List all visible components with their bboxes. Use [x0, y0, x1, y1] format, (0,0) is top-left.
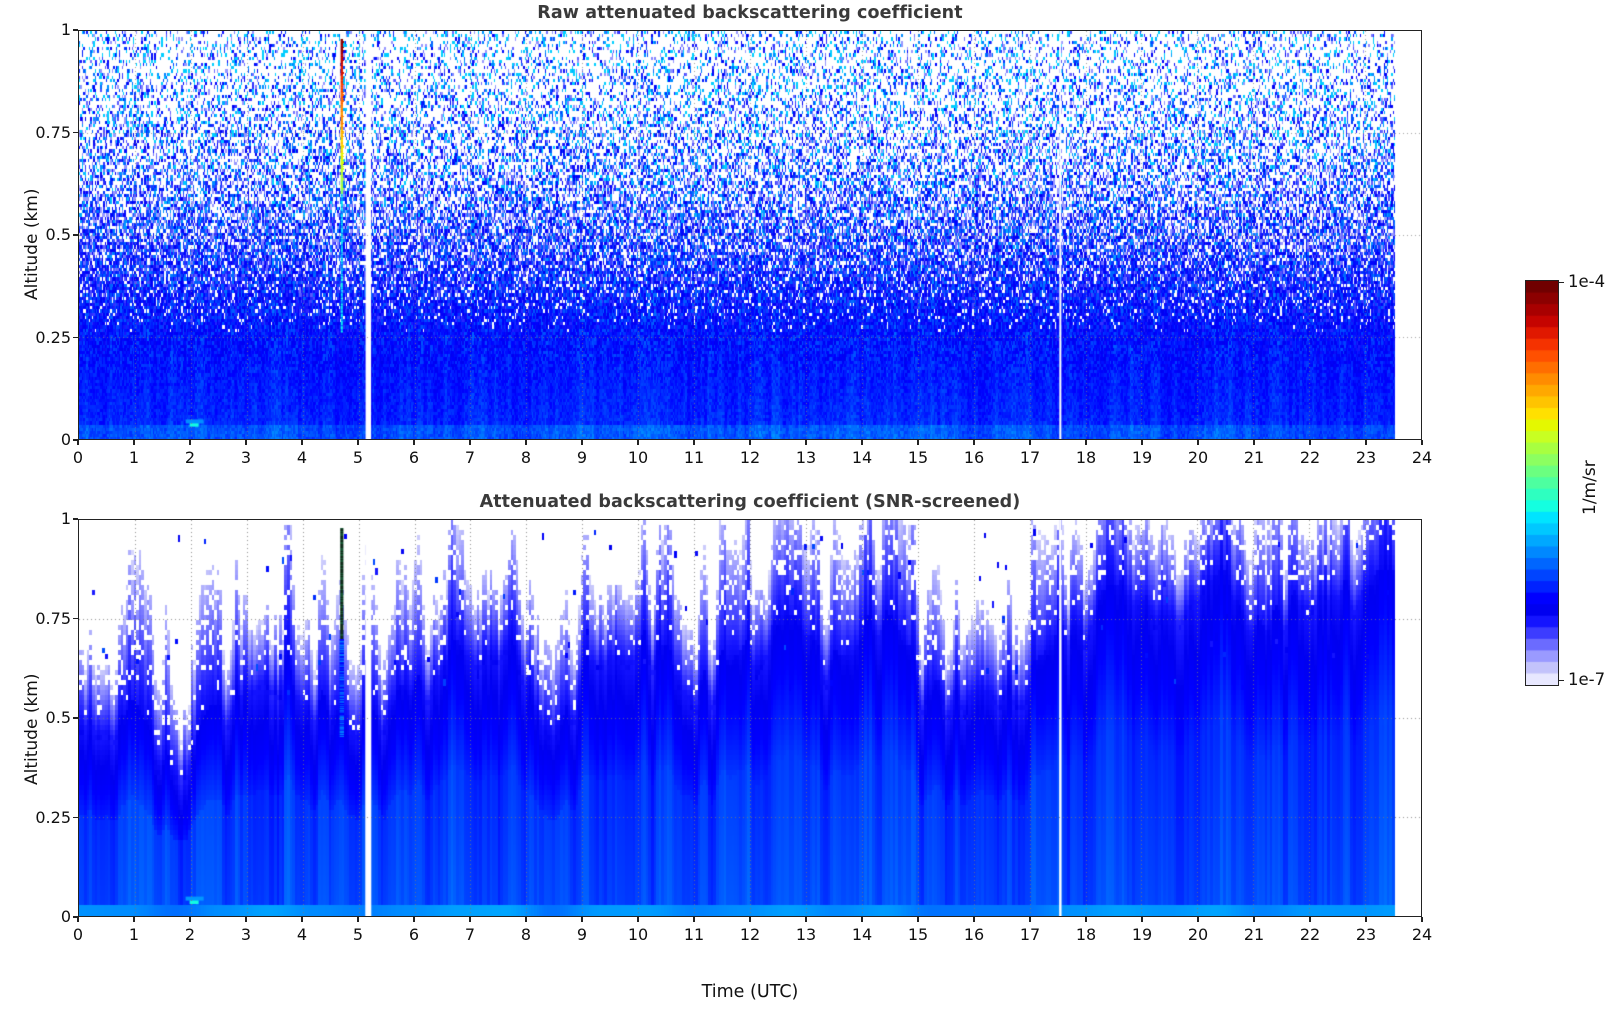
ytick-mark-1-3 — [73, 618, 78, 619]
xtick-mark-1-6 — [413, 917, 414, 922]
xtick-mark-1-21 — [1253, 917, 1254, 922]
xtick-label-0-0: 0 — [53, 448, 103, 467]
colorbar-title: 1/m/sr — [1580, 460, 1600, 515]
colorbar-tick-top — [1558, 282, 1564, 283]
xtick-label-1-2: 2 — [165, 925, 215, 944]
ytick-label-0-2: 0.5 — [16, 225, 71, 244]
xtick-label-1-18: 18 — [1061, 925, 1111, 944]
xtick-mark-0-13 — [805, 440, 806, 445]
xtick-label-0-4: 4 — [277, 448, 327, 467]
xtick-label-1-6: 6 — [389, 925, 439, 944]
xtick-label-1-3: 3 — [221, 925, 271, 944]
xtick-label-0-9: 9 — [557, 448, 607, 467]
xtick-label-1-16: 16 — [949, 925, 999, 944]
colorbar — [1525, 280, 1559, 686]
colorbar-label-max: 1e-4 — [1568, 272, 1605, 291]
xtick-mark-0-17 — [1029, 440, 1030, 445]
xtick-label-1-4: 4 — [277, 925, 327, 944]
xtick-label-1-21: 21 — [1229, 925, 1279, 944]
xtick-mark-0-16 — [973, 440, 974, 445]
ytick-mark-1-1 — [73, 817, 78, 818]
ytick-mark-0-1 — [73, 337, 78, 338]
xtick-mark-1-9 — [581, 917, 582, 922]
xtick-mark-1-13 — [805, 917, 806, 922]
xtick-label-1-10: 10 — [613, 925, 663, 944]
xtick-mark-0-18 — [1085, 440, 1086, 445]
xtick-mark-0-5 — [357, 440, 358, 445]
xtick-mark-0-10 — [637, 440, 638, 445]
xtick-label-0-3: 3 — [221, 448, 271, 467]
colorbar-label-min: 1e-7 — [1568, 670, 1605, 689]
xtick-mark-1-24 — [1421, 917, 1422, 922]
xtick-label-0-12: 12 — [725, 448, 775, 467]
xtick-label-0-13: 13 — [781, 448, 831, 467]
ytick-label-0-0: 0 — [16, 430, 71, 449]
ytick-label-1-3: 0.75 — [16, 609, 71, 628]
xtick-label-0-2: 2 — [165, 448, 215, 467]
xtick-label-0-19: 19 — [1117, 448, 1167, 467]
xtick-label-0-20: 20 — [1173, 448, 1223, 467]
xtick-mark-0-21 — [1253, 440, 1254, 445]
xtick-mark-0-14 — [861, 440, 862, 445]
panel-2-title: Attenuated backscattering coefficient (S… — [80, 492, 1420, 512]
xtick-mark-1-1 — [133, 917, 134, 922]
xtick-mark-1-12 — [749, 917, 750, 922]
xtick-mark-1-7 — [469, 917, 470, 922]
xtick-mark-0-7 — [469, 440, 470, 445]
screened-backscatter-plot — [78, 519, 1422, 917]
xtick-mark-0-12 — [749, 440, 750, 445]
xtick-mark-1-22 — [1309, 917, 1310, 922]
lidar-backscatter-figure: Raw attenuated backscattering coefficien… — [0, 0, 1621, 1020]
xtick-mark-0-15 — [917, 440, 918, 445]
raw-backscatter-plot — [78, 30, 1422, 440]
xtick-mark-1-18 — [1085, 917, 1086, 922]
xtick-label-1-14: 14 — [837, 925, 887, 944]
panel-1-ylabel: Altitude (km) — [22, 188, 42, 300]
xtick-mark-0-24 — [1421, 440, 1422, 445]
xtick-label-1-22: 22 — [1285, 925, 1335, 944]
xtick-mark-0-8 — [525, 440, 526, 445]
xtick-label-0-16: 16 — [949, 448, 999, 467]
xtick-mark-0-4 — [301, 440, 302, 445]
xtick-mark-0-20 — [1197, 440, 1198, 445]
xtick-label-1-8: 8 — [501, 925, 551, 944]
xtick-mark-1-15 — [917, 917, 918, 922]
xtick-label-0-14: 14 — [837, 448, 887, 467]
xtick-label-0-17: 17 — [1005, 448, 1055, 467]
xtick-mark-0-2 — [189, 440, 190, 445]
xtick-label-1-1: 1 — [109, 925, 159, 944]
xtick-mark-1-5 — [357, 917, 358, 922]
xtick-mark-1-10 — [637, 917, 638, 922]
xtick-label-1-13: 13 — [781, 925, 831, 944]
colorbar-group: 1e-4 1e-7 1/m/sr — [1480, 280, 1620, 690]
xtick-mark-1-17 — [1029, 917, 1030, 922]
xtick-label-1-20: 20 — [1173, 925, 1223, 944]
xtick-label-1-9: 9 — [557, 925, 607, 944]
xtick-label-1-5: 5 — [333, 925, 383, 944]
xtick-label-0-7: 7 — [445, 448, 495, 467]
xtick-label-0-10: 10 — [613, 448, 663, 467]
xtick-label-0-8: 8 — [501, 448, 551, 467]
xtick-mark-1-2 — [189, 917, 190, 922]
xtick-mark-0-0 — [77, 440, 78, 445]
xtick-mark-1-23 — [1365, 917, 1366, 922]
ytick-mark-1-2 — [73, 717, 78, 718]
xtick-label-0-1: 1 — [109, 448, 159, 467]
xtick-mark-1-19 — [1141, 917, 1142, 922]
xtick-label-1-17: 17 — [1005, 925, 1055, 944]
xtick-label-0-21: 21 — [1229, 448, 1279, 467]
xtick-label-1-23: 23 — [1341, 925, 1391, 944]
panel-2-xlabel: Time (UTC) — [80, 982, 1420, 1002]
xtick-mark-0-19 — [1141, 440, 1142, 445]
xtick-mark-1-11 — [693, 917, 694, 922]
xtick-label-0-5: 5 — [333, 448, 383, 467]
ytick-mark-1-4 — [73, 518, 78, 519]
xtick-mark-0-11 — [693, 440, 694, 445]
ytick-label-1-2: 0.5 — [16, 708, 71, 727]
xtick-label-1-0: 0 — [53, 925, 103, 944]
ytick-label-0-3: 0.75 — [16, 123, 71, 142]
ytick-label-1-4: 1 — [16, 509, 71, 528]
xtick-mark-0-23 — [1365, 440, 1366, 445]
ytick-mark-0-2 — [73, 234, 78, 235]
xtick-mark-1-14 — [861, 917, 862, 922]
ytick-mark-0-4 — [73, 29, 78, 30]
xtick-label-1-24: 24 — [1397, 925, 1447, 944]
xtick-label-0-11: 11 — [669, 448, 719, 467]
xtick-mark-1-16 — [973, 917, 974, 922]
ytick-label-1-0: 0 — [16, 907, 71, 926]
xtick-mark-1-8 — [525, 917, 526, 922]
xtick-label-1-7: 7 — [445, 925, 495, 944]
xtick-label-0-24: 24 — [1397, 448, 1447, 467]
ytick-label-0-4: 1 — [16, 20, 71, 39]
xtick-label-1-11: 11 — [669, 925, 719, 944]
xtick-label-1-15: 15 — [893, 925, 943, 944]
xtick-mark-0-1 — [133, 440, 134, 445]
ytick-mark-0-3 — [73, 132, 78, 133]
panel-2-ylabel: Altitude (km) — [22, 673, 42, 785]
xtick-mark-1-4 — [301, 917, 302, 922]
xtick-label-0-18: 18 — [1061, 448, 1111, 467]
xtick-label-1-12: 12 — [725, 925, 775, 944]
xtick-label-0-23: 23 — [1341, 448, 1391, 467]
xtick-label-0-22: 22 — [1285, 448, 1335, 467]
xtick-mark-1-3 — [245, 917, 246, 922]
xtick-mark-1-20 — [1197, 917, 1198, 922]
xtick-mark-1-0 — [77, 917, 78, 922]
colorbar-tick-bottom — [1558, 680, 1564, 681]
xtick-mark-0-3 — [245, 440, 246, 445]
xtick-mark-0-9 — [581, 440, 582, 445]
xtick-label-1-19: 19 — [1117, 925, 1167, 944]
xtick-mark-0-6 — [413, 440, 414, 445]
xtick-mark-0-22 — [1309, 440, 1310, 445]
ytick-label-1-1: 0.25 — [16, 808, 71, 827]
panel-1-title: Raw attenuated backscattering coefficien… — [80, 3, 1420, 23]
xtick-label-0-6: 6 — [389, 448, 439, 467]
ytick-label-0-1: 0.25 — [16, 328, 71, 347]
xtick-label-0-15: 15 — [893, 448, 943, 467]
